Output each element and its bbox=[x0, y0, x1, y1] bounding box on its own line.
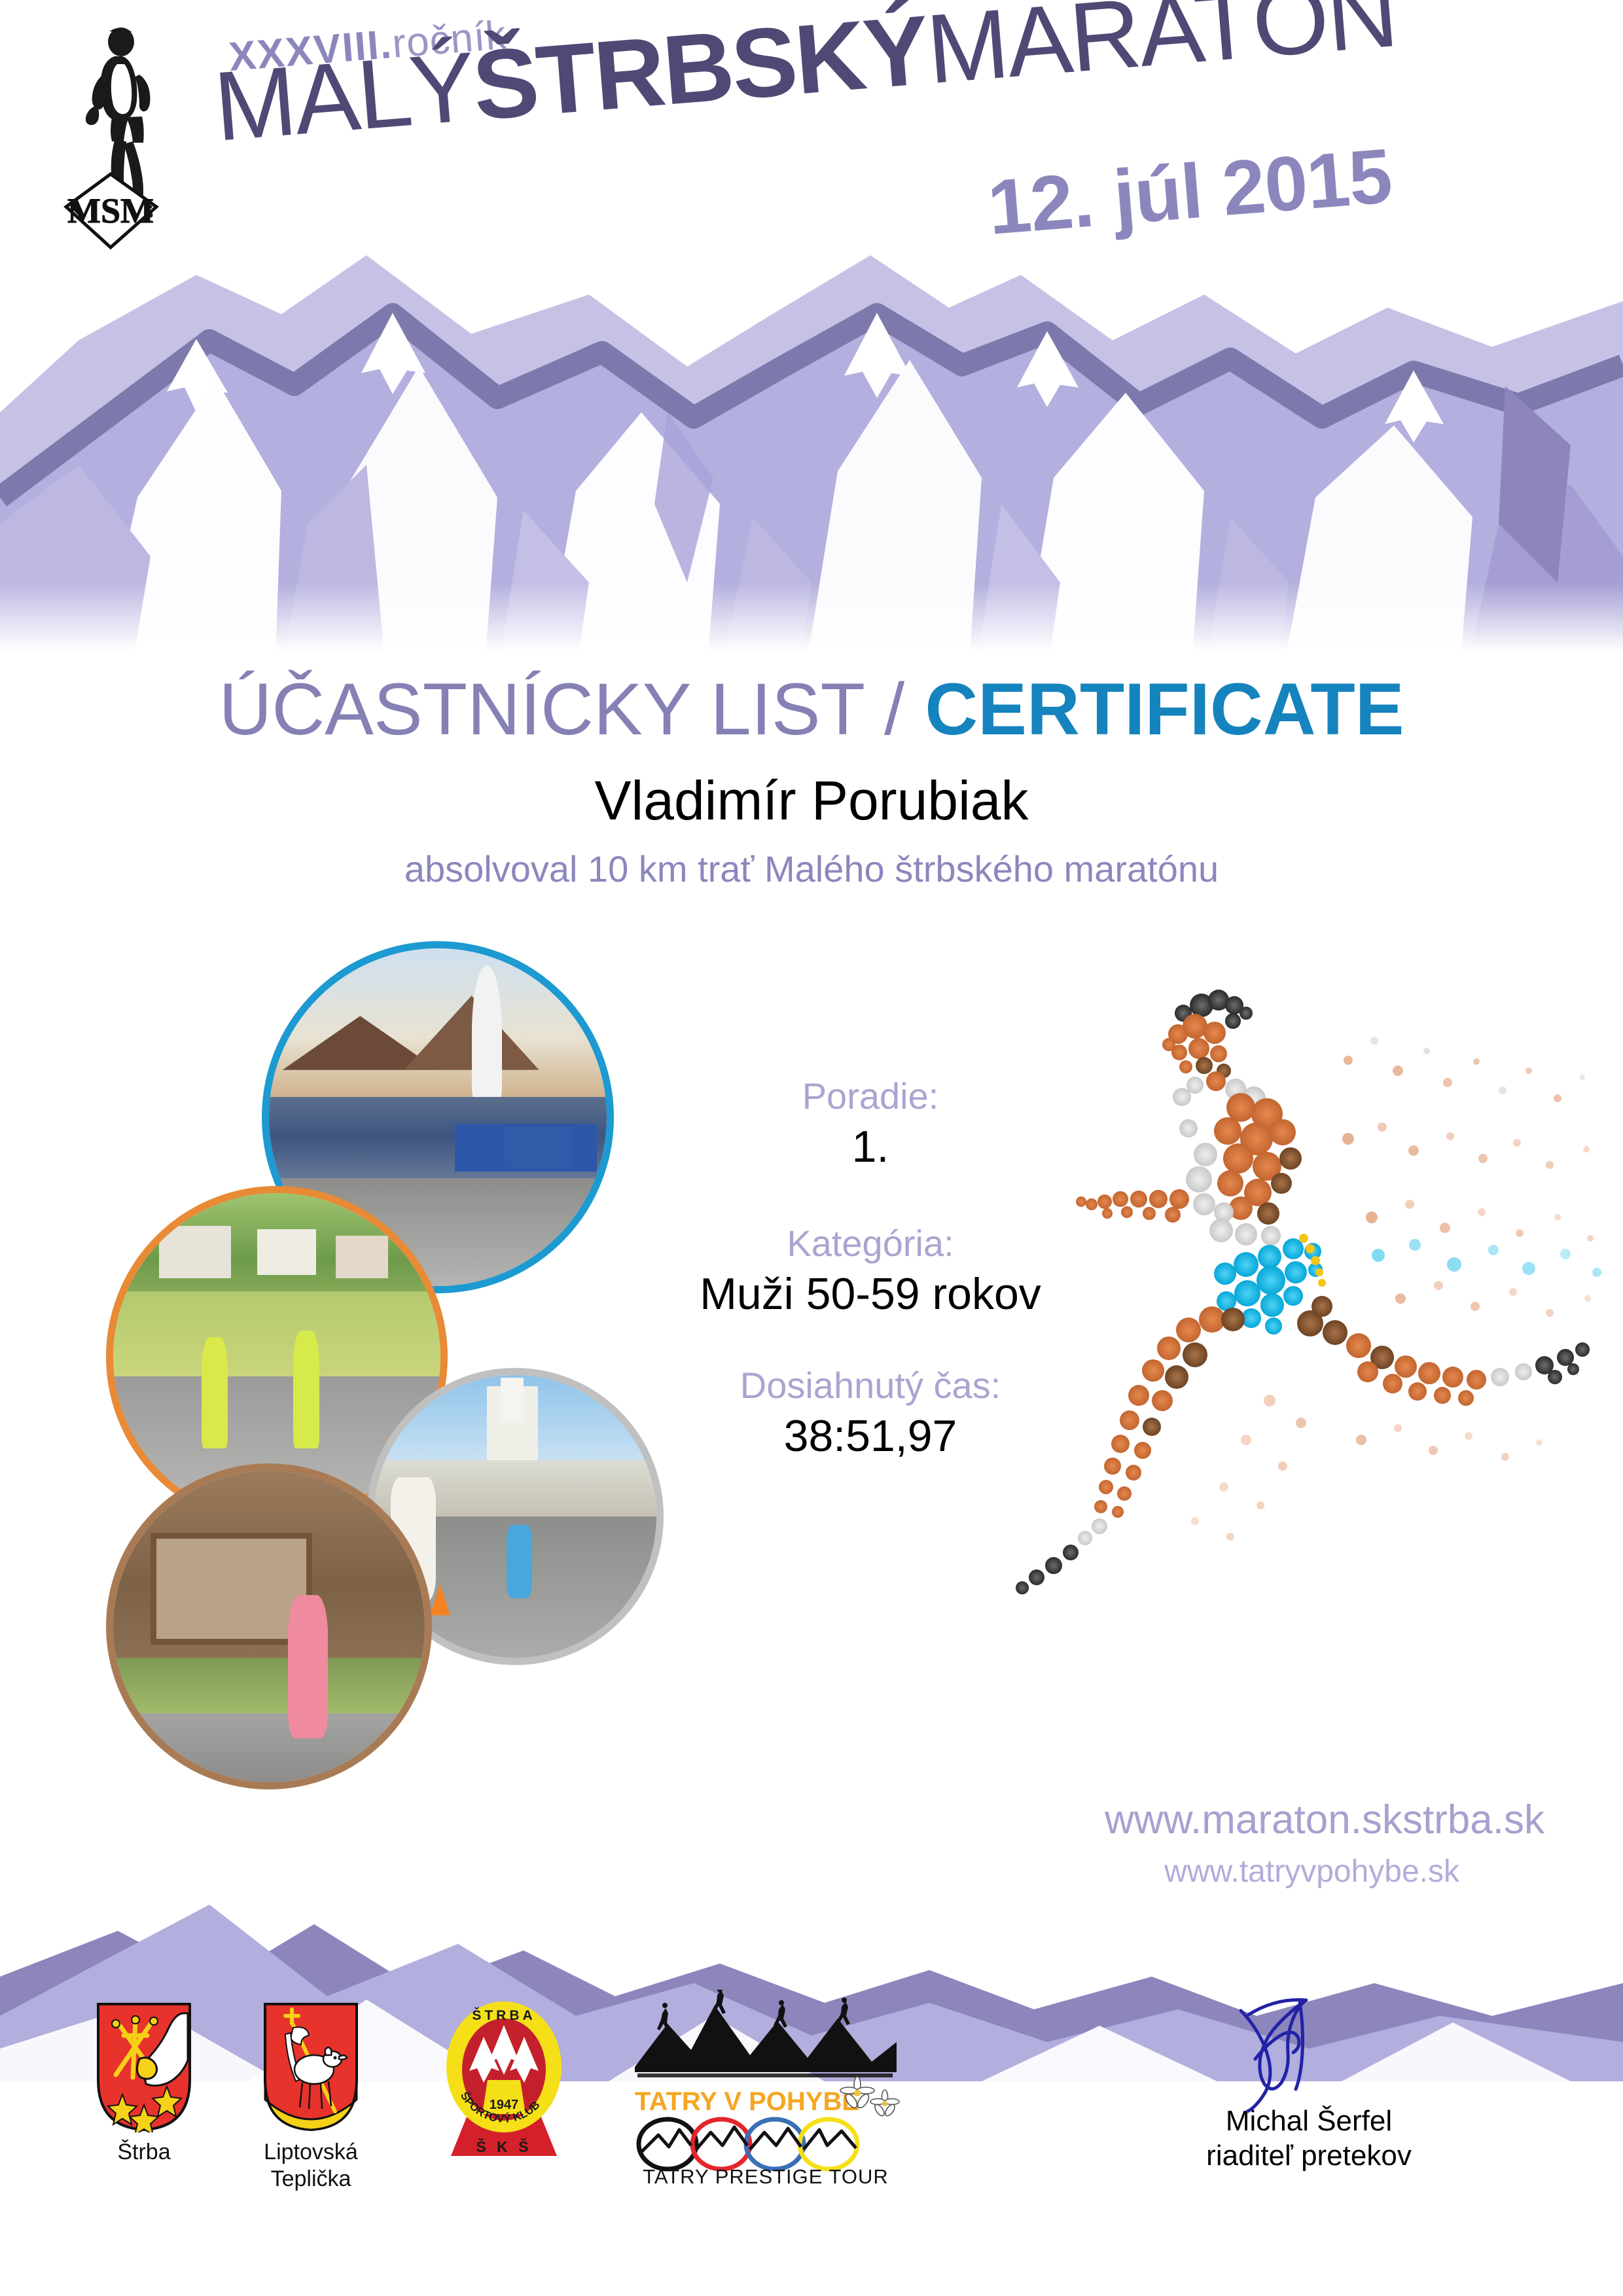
certificate-subtitle: absolvoval 10 km trať Malého štrbského m… bbox=[0, 848, 1623, 890]
sks-strba-club-logo-icon: ŠTRBA 1947 Š K Š ŠPORTOVÝ KLUB bbox=[442, 1996, 566, 2160]
sponsor-sks-strba: ŠTRBA 1947 Š K Š ŠPORTOVÝ KLUB bbox=[432, 1996, 576, 2166]
signature-role: riaditeľ pretekov bbox=[1106, 2138, 1512, 2174]
particle-runner-illustration bbox=[1008, 942, 1623, 1682]
certificate-footer: Štrba bbox=[0, 1970, 1623, 2296]
certificate-title-en: CERTIFICATE bbox=[925, 668, 1404, 750]
sponsor-strba-caption: Štrba bbox=[79, 2139, 209, 2166]
mountain-banner-graphic bbox=[0, 216, 1623, 674]
sponsor-caption-line1: Liptovská bbox=[229, 2139, 393, 2166]
event-title-part1: MALÝ bbox=[210, 31, 478, 161]
svg-text:ŠTRBA: ŠTRBA bbox=[472, 2007, 535, 2023]
certificate-title-sk: ÚČASTNÍCKY LIST bbox=[219, 668, 864, 750]
sponsor-tatry-group: TATRY V POHYBE bbox=[628, 1990, 910, 2186]
website-secondary-link[interactable]: www.tatryvpohybe.sk bbox=[0, 1854, 1623, 1890]
sponsor-liptovska-teplicka-caption: Liptovská Teplička bbox=[229, 2139, 393, 2193]
svg-text:1947: 1947 bbox=[490, 2098, 519, 2112]
certificate-title-separator: / bbox=[884, 668, 904, 750]
sponsor-caption-line2: Teplička bbox=[229, 2166, 393, 2193]
svg-text:TATRY PRESTIGE TOUR: TATRY PRESTIGE TOUR bbox=[643, 2165, 889, 2186]
certificate-title: ÚČASTNÍCKY LIST / CERTIFICATE bbox=[0, 671, 1623, 748]
website-primary-link[interactable]: www.maraton.skstrba.sk bbox=[0, 1797, 1623, 1843]
tatry-v-pohybe-logo-icon: TATRY V POHYBE bbox=[628, 1990, 903, 2186]
svg-text:Š K Š: Š K Š bbox=[476, 2138, 531, 2155]
signature-ink-icon bbox=[1178, 1996, 1387, 2114]
participant-name: Vladimír Porubiak bbox=[0, 769, 1623, 833]
sponsor-strba: Štrba bbox=[79, 2001, 209, 2166]
event-title-part2: ŠTRBSKÝ bbox=[469, 0, 931, 141]
photo-woman-runner bbox=[106, 1463, 432, 1789]
certificate-page: MSM XXXVIII.ročník MALÝŠTRBSKÝMARATÓN 12… bbox=[0, 0, 1623, 2296]
svg-text:TATRY V POHYBE: TATRY V POHYBE bbox=[635, 2087, 859, 2116]
certificate-header: MSM XXXVIII.ročník MALÝŠTRBSKÝMARATÓN 12… bbox=[0, 0, 1623, 655]
signature-block: Michal Šerfel riaditeľ pretekov bbox=[1106, 1996, 1512, 2174]
sponsor-liptovska-teplicka: Liptovská Teplička bbox=[229, 2001, 393, 2193]
photo-collage bbox=[92, 936, 628, 1813]
event-title-part3: MARATÓN bbox=[923, 0, 1400, 104]
liptovska-teplicka-coat-of-arms-icon bbox=[262, 2001, 360, 2132]
strba-coat-of-arms-icon bbox=[95, 2001, 193, 2132]
